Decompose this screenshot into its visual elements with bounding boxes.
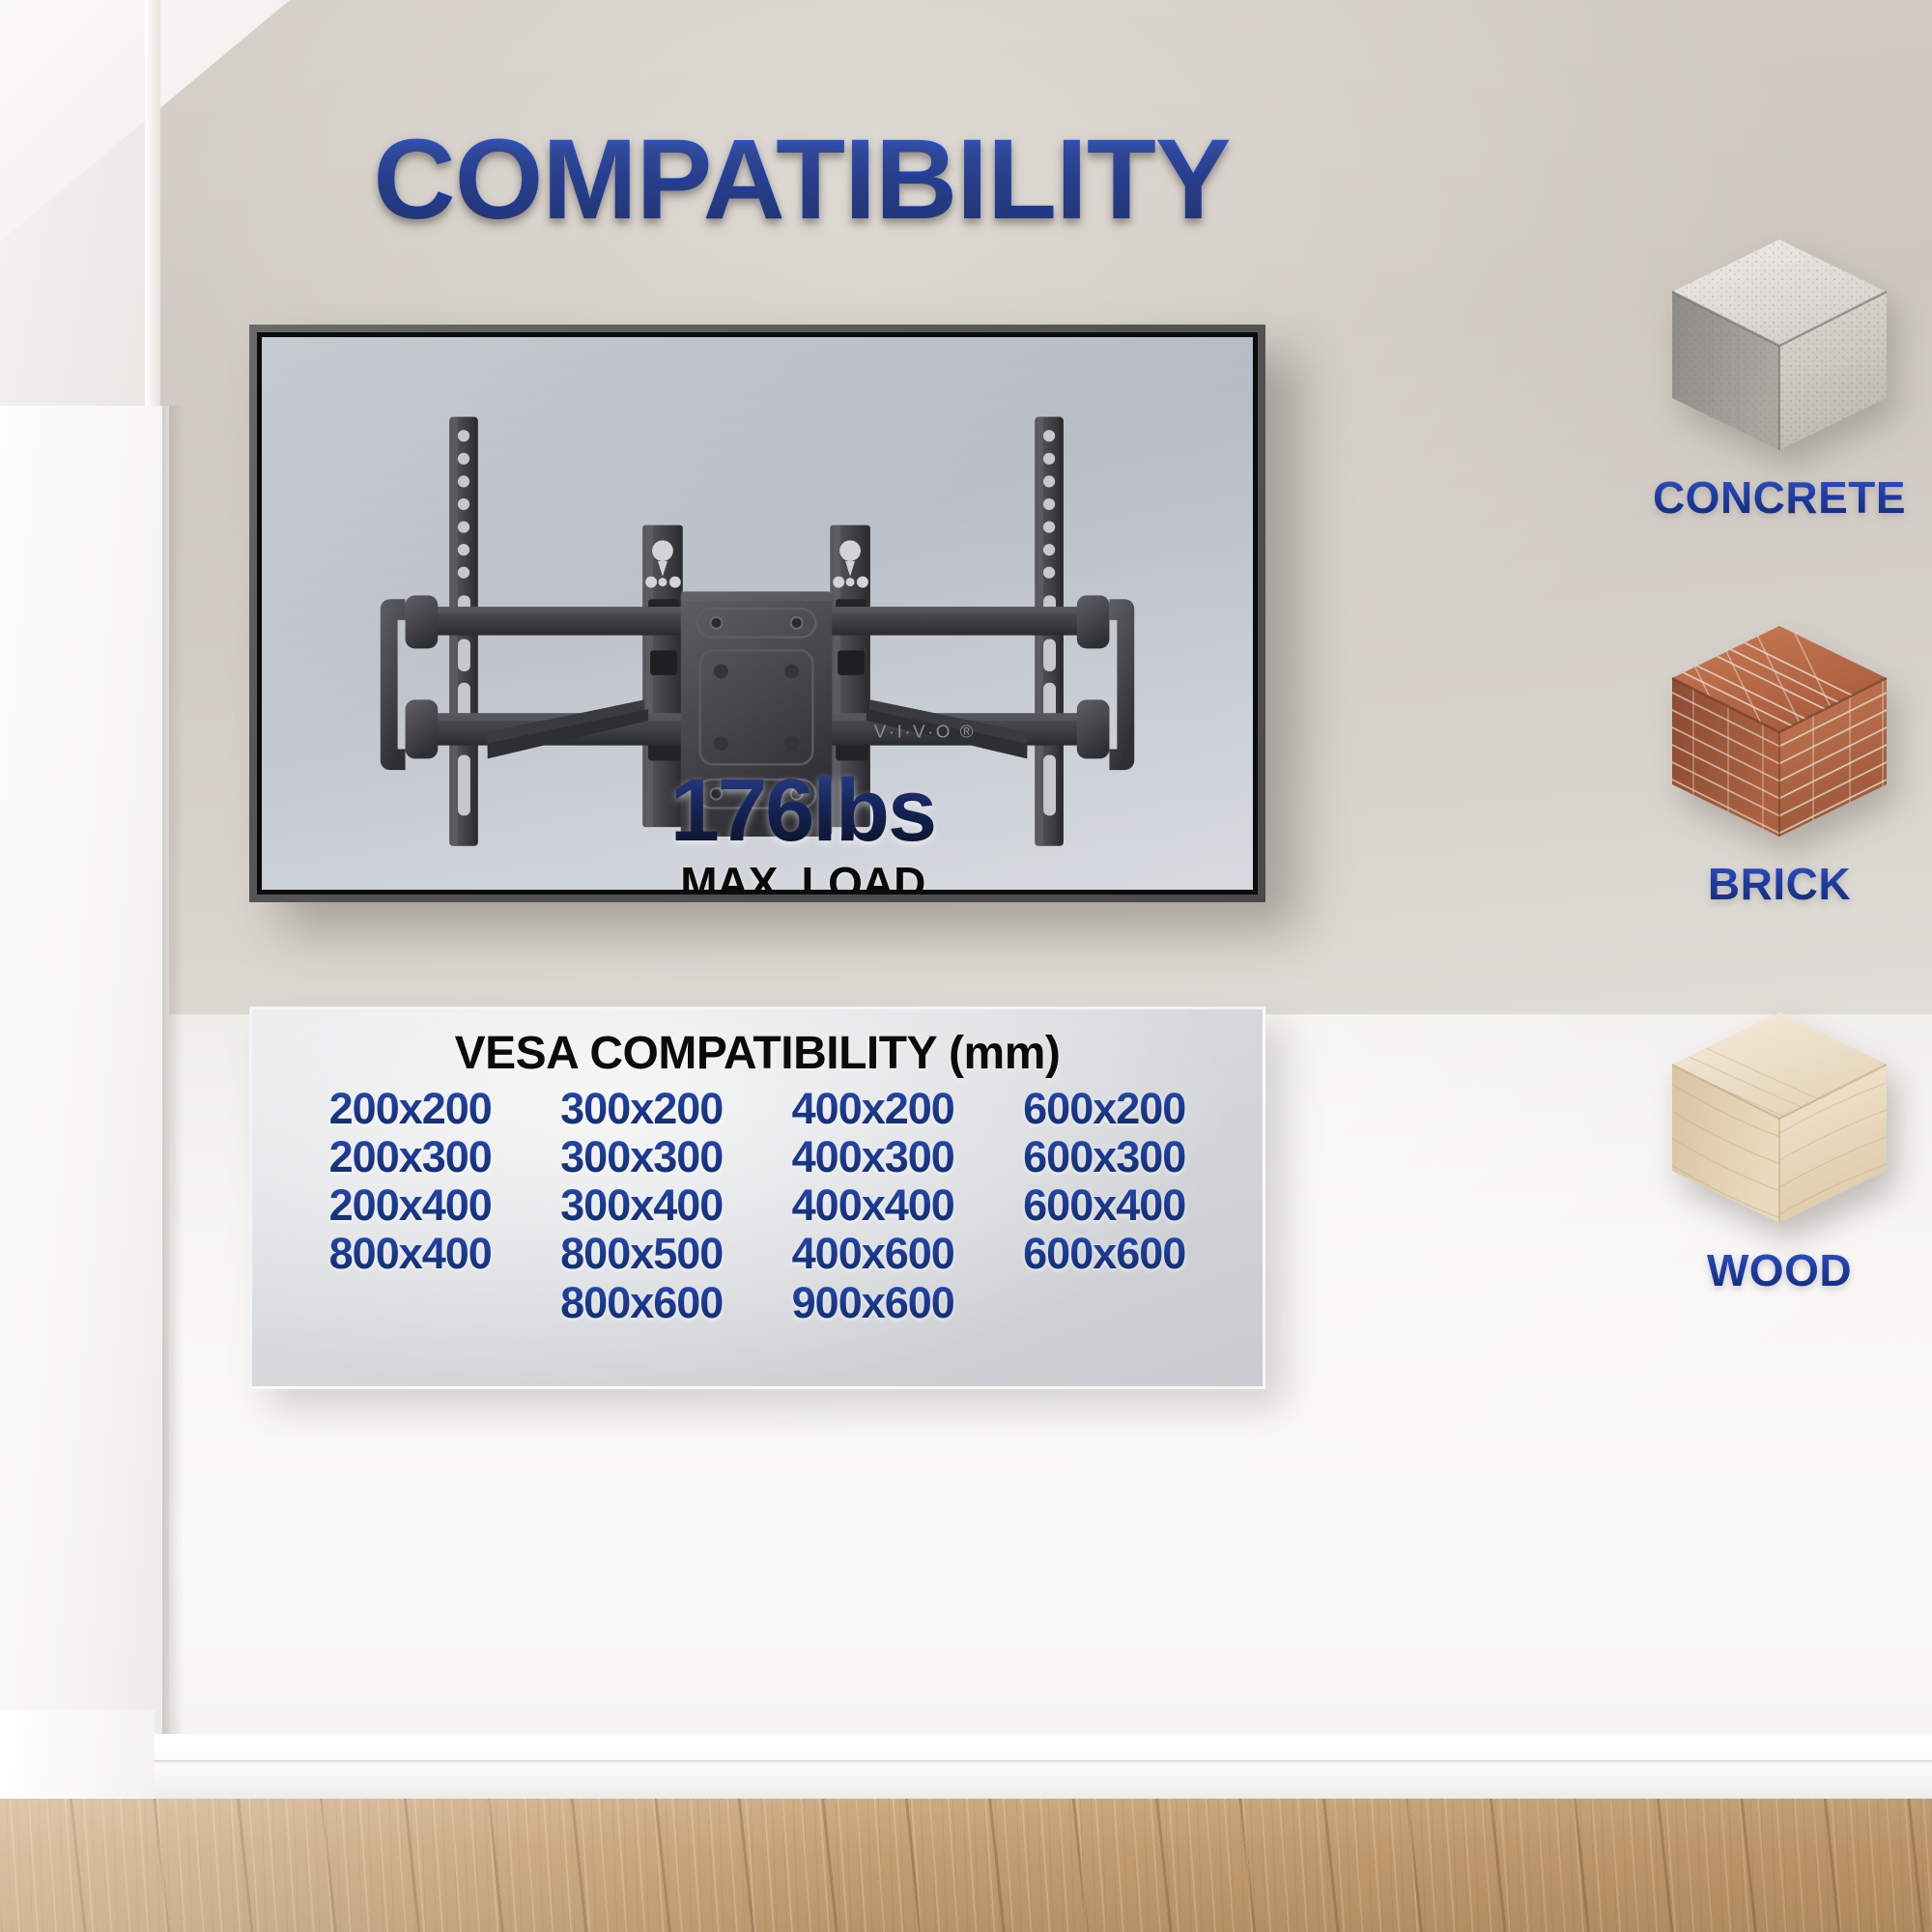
tv-screen: V·I·V·O ® 176lbs MAX. LOAD [257, 332, 1258, 895]
vesa-cell: 400x200 [757, 1086, 989, 1132]
vesa-cell: 600x400 [989, 1182, 1221, 1229]
vesa-cell: 600x600 [989, 1231, 1221, 1277]
vesa-cell: 400x300 [757, 1134, 989, 1180]
brick-cube-icon [1659, 611, 1900, 852]
material-brick: BRICK [1634, 611, 1924, 910]
vesa-compatibility-panel: VESA COMPATIBILITY (mm) 200x200 300x200 … [249, 1007, 1265, 1389]
vesa-cell: 800x600 [526, 1280, 758, 1326]
baseboard-reveal [145, 1760, 1932, 1764]
material-label-concrete: CONCRETE [1634, 471, 1924, 524]
vesa-cell: 300x400 [526, 1182, 758, 1229]
vesa-title: VESA COMPATIBILITY (mm) [252, 1027, 1263, 1080]
vesa-cell: 800x500 [526, 1231, 758, 1277]
vivo-brand-logo: V·I·V·O ® [874, 722, 976, 742]
material-label-brick: BRICK [1634, 858, 1924, 910]
floor-sheen [0, 1799, 1932, 1932]
material-label-wood: WOOD [1634, 1244, 1924, 1296]
vesa-grid: 200x200 300x200 400x200 600x200 200x300 … [252, 1086, 1263, 1326]
vesa-cell: 600x200 [989, 1086, 1221, 1132]
max-load-label: MAX. LOAD [643, 857, 962, 895]
vesa-cell: 400x400 [757, 1182, 989, 1229]
vesa-cell: 200x200 [295, 1086, 526, 1132]
concrete-cube-icon [1659, 224, 1900, 466]
vesa-cell: 200x400 [295, 1182, 526, 1229]
max-load-callout: 176lbs MAX. LOAD [643, 769, 962, 895]
wood-cube-icon [1659, 997, 1900, 1238]
vesa-cell: 200x300 [295, 1134, 526, 1180]
max-load-value: 176lbs [643, 769, 962, 853]
wall-column [0, 406, 169, 1826]
material-concrete: CONCRETE [1634, 224, 1924, 524]
vesa-cell: 300x300 [526, 1134, 758, 1180]
vesa-cell: 800x400 [295, 1231, 526, 1277]
vesa-cell: 900x600 [757, 1280, 989, 1326]
vesa-cell: 400x600 [757, 1231, 989, 1277]
vesa-cell: 600x300 [989, 1134, 1221, 1180]
page-title: COMPATIBILITY [0, 114, 1604, 245]
wood-floor [0, 1799, 1932, 1932]
vesa-cell: 300x200 [526, 1086, 758, 1132]
tv-panel: V·I·V·O ® 176lbs MAX. LOAD [249, 325, 1265, 902]
material-wood: WOOD [1634, 997, 1924, 1296]
wall-column-shadow [162, 406, 184, 1826]
